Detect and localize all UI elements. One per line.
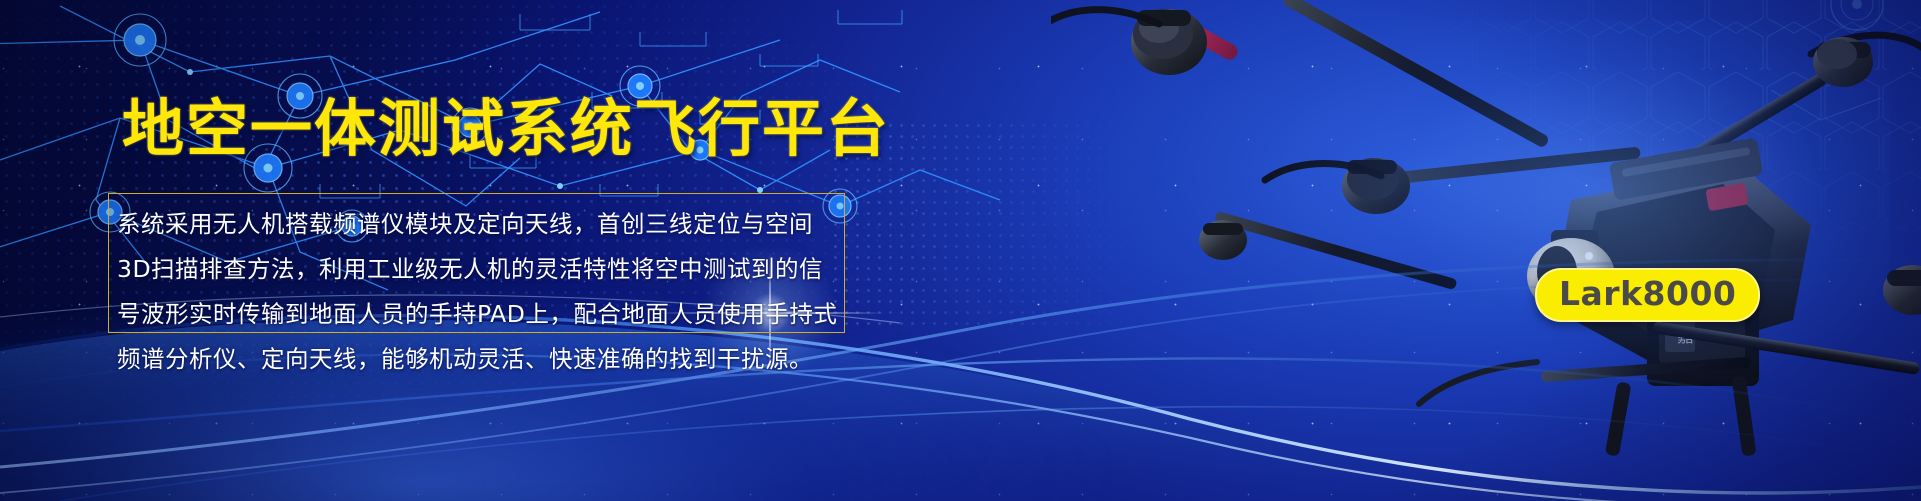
promo-banner: 嘉	[0, 0, 1921, 501]
description-box: 系统采用无人机搭载频谱仪模块及定向天线，首创三线定位与空间3D扫描排查方法，利用…	[108, 193, 845, 333]
page-title: 地空一体测试系统飞行平台	[122, 78, 890, 168]
description-text: 系统采用无人机搭载频谱仪模块及定向天线，首创三线定位与空间3D扫描排查方法，利用…	[117, 202, 838, 382]
product-model-badge: Lark8000	[1535, 268, 1760, 322]
